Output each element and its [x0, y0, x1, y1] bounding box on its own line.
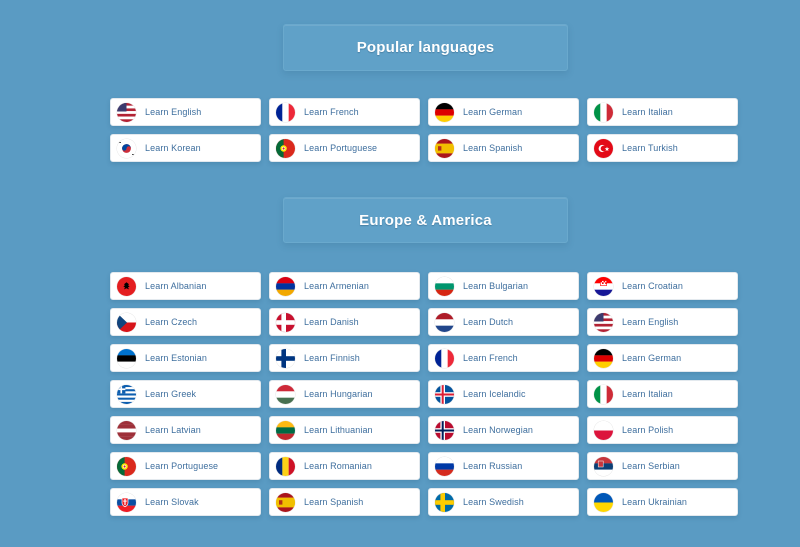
language-card[interactable]: Learn Bulgarian [428, 272, 579, 300]
language-card-label: Learn French [304, 107, 359, 117]
flag-al-icon [117, 277, 136, 296]
flag-it-icon [594, 103, 613, 122]
flag-es-icon [435, 139, 454, 158]
language-card[interactable]: Learn Slovak [110, 488, 261, 516]
language-card[interactable]: Learn German [428, 98, 579, 126]
flag-us-icon [117, 103, 136, 122]
language-card-label: Learn German [463, 107, 522, 117]
language-card[interactable]: Learn Norwegian [428, 416, 579, 444]
language-card[interactable]: Learn Italian [587, 98, 738, 126]
language-card[interactable]: Learn Spanish [269, 488, 420, 516]
language-card[interactable]: Learn Latvian [110, 416, 261, 444]
flag-lv-icon [117, 421, 136, 440]
language-card-label: Learn Albanian [145, 281, 206, 291]
language-card-label: Learn Icelandic [463, 389, 526, 399]
flag-lt-icon [276, 421, 295, 440]
language-card-label: Learn Spanish [463, 143, 522, 153]
language-card[interactable]: Learn Greek [110, 380, 261, 408]
flag-se-icon [435, 493, 454, 512]
flag-fi-icon [276, 349, 295, 368]
language-card-label: Learn Korean [145, 143, 201, 153]
flag-dk-icon [276, 313, 295, 332]
flag-pl-icon [594, 421, 613, 440]
language-card[interactable]: Learn Armenian [269, 272, 420, 300]
language-card-label: Learn Portuguese [145, 461, 218, 471]
language-card-label: Learn Dutch [463, 317, 513, 327]
flag-rs-icon [594, 457, 613, 476]
flag-fr-icon [435, 349, 454, 368]
language-card[interactable]: Learn Dutch [428, 308, 579, 336]
language-card[interactable]: Learn Czech [110, 308, 261, 336]
language-card-label: Learn French [463, 353, 518, 363]
flag-pt-icon [276, 139, 295, 158]
language-card[interactable]: Learn Swedish [428, 488, 579, 516]
flag-es-icon [276, 493, 295, 512]
flag-gr-icon [117, 385, 136, 404]
language-card-label: Learn Russian [463, 461, 522, 471]
language-card[interactable]: Learn Portuguese [110, 452, 261, 480]
flag-ua-icon [594, 493, 613, 512]
flag-us-icon [594, 313, 613, 332]
flag-it-icon [594, 385, 613, 404]
language-card[interactable]: Learn Finnish [269, 344, 420, 372]
language-card[interactable]: Learn Spanish [428, 134, 579, 162]
language-card-label: Learn Armenian [304, 281, 369, 291]
flag-tr-icon [594, 139, 613, 158]
section-title: Europe & America [359, 212, 492, 229]
language-card[interactable]: Learn Croatian [587, 272, 738, 300]
language-card-label: Learn Greek [145, 389, 196, 399]
language-grid-europe: Learn AlbanianLearn ArmenianLearn Bulgar… [110, 272, 738, 516]
language-card-label: Learn Ukrainian [622, 497, 687, 507]
language-card-label: Learn Estonian [145, 353, 207, 363]
language-card-label: Learn Lithuanian [304, 425, 373, 435]
language-card-label: Learn Slovak [145, 497, 199, 507]
language-card-label: Learn Polish [622, 425, 673, 435]
language-card[interactable]: Learn French [428, 344, 579, 372]
language-card[interactable]: Learn Albanian [110, 272, 261, 300]
language-card-label: Learn English [622, 317, 678, 327]
flag-bg-icon [435, 277, 454, 296]
language-card-label: Learn Croatian [622, 281, 683, 291]
language-card[interactable]: Learn Polish [587, 416, 738, 444]
language-card[interactable]: Learn Estonian [110, 344, 261, 372]
flag-kr-icon [117, 139, 136, 158]
language-card-label: Learn English [145, 107, 201, 117]
language-card-label: Learn Bulgarian [463, 281, 528, 291]
flag-de-icon [435, 103, 454, 122]
language-card[interactable]: Learn Italian [587, 380, 738, 408]
language-card-label: Learn Hungarian [304, 389, 373, 399]
language-card[interactable]: Learn Danish [269, 308, 420, 336]
language-card[interactable]: Learn Portuguese [269, 134, 420, 162]
language-grid-popular: Learn EnglishLearn FrenchLearn GermanLea… [110, 98, 738, 162]
language-card[interactable]: Learn Ukrainian [587, 488, 738, 516]
language-card-label: Learn Turkish [622, 143, 678, 153]
section-header-popular: Popular languages [283, 24, 568, 71]
language-card[interactable]: Learn Icelandic [428, 380, 579, 408]
flag-sk-icon [117, 493, 136, 512]
section-title: Popular languages [357, 39, 495, 56]
language-card-label: Learn Czech [145, 317, 197, 327]
language-card[interactable]: Learn Turkish [587, 134, 738, 162]
language-card[interactable]: Learn Romanian [269, 452, 420, 480]
language-card-label: Learn Portuguese [304, 143, 377, 153]
language-card-label: Learn Spanish [304, 497, 363, 507]
flag-nl-icon [435, 313, 454, 332]
flag-hr-icon [594, 277, 613, 296]
flag-is-icon [435, 385, 454, 404]
section-header-europe: Europe & America [283, 197, 568, 243]
language-card[interactable]: Learn Korean [110, 134, 261, 162]
language-card[interactable]: Learn French [269, 98, 420, 126]
flag-no-icon [435, 421, 454, 440]
flag-cz-icon [117, 313, 136, 332]
language-card-label: Learn Serbian [622, 461, 680, 471]
language-card-label: Learn Danish [304, 317, 359, 327]
language-card[interactable]: Learn Russian [428, 452, 579, 480]
language-card[interactable]: Learn German [587, 344, 738, 372]
language-card[interactable]: Learn Hungarian [269, 380, 420, 408]
language-card[interactable]: Learn English [587, 308, 738, 336]
language-card-label: Learn Finnish [304, 353, 360, 363]
flag-de-icon [594, 349, 613, 368]
language-card-label: Learn Italian [622, 107, 673, 117]
flag-hu-icon [276, 385, 295, 404]
language-card-label: Learn German [622, 353, 681, 363]
language-card[interactable]: Learn Serbian [587, 452, 738, 480]
flag-pt-icon [117, 457, 136, 476]
language-card[interactable]: Learn Lithuanian [269, 416, 420, 444]
language-card-label: Learn Romanian [304, 461, 372, 471]
language-card-label: Learn Italian [622, 389, 673, 399]
flag-ru-icon [435, 457, 454, 476]
flag-ro-icon [276, 457, 295, 476]
language-card-label: Learn Latvian [145, 425, 201, 435]
flag-fr-icon [276, 103, 295, 122]
flag-am-icon [276, 277, 295, 296]
language-card-label: Learn Norwegian [463, 425, 533, 435]
language-card-label: Learn Swedish [463, 497, 524, 507]
language-card[interactable]: Learn English [110, 98, 261, 126]
flag-ee-icon [117, 349, 136, 368]
